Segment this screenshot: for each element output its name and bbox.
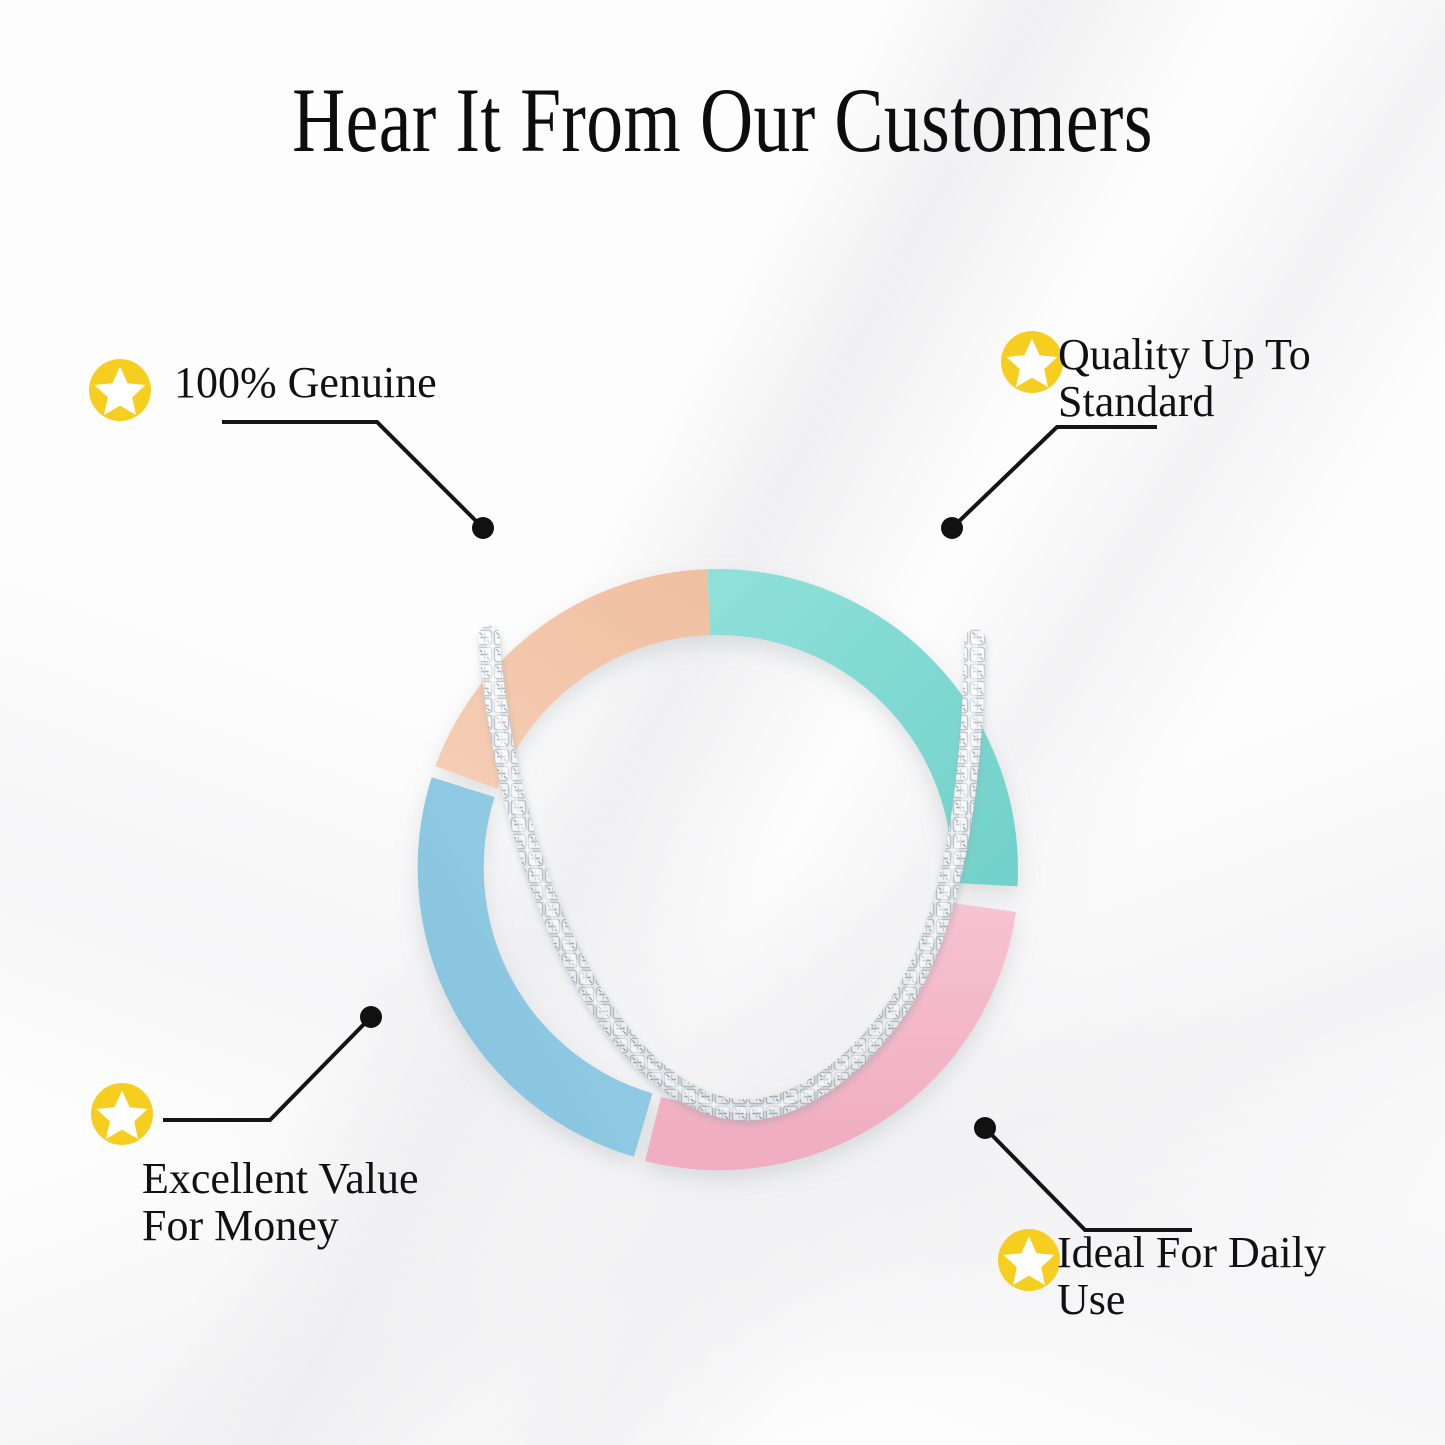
callout-genuine-label: 100% Genuine xyxy=(174,358,437,407)
callout-daily[interactable]: Ideal For Daily Use xyxy=(997,1228,1326,1323)
donut-segment-quality[interactable] xyxy=(709,602,985,885)
callout-value-label: Excellent Value For Money xyxy=(142,1154,419,1249)
callout-quality-label: Quality Up To Standard xyxy=(1058,330,1311,425)
callout-daily-label: Ideal For Daily Use xyxy=(1057,1228,1326,1323)
leader-dot-genuine xyxy=(472,517,494,539)
leader-dot-daily xyxy=(974,1117,996,1139)
donut-ring-group xyxy=(451,602,985,1137)
infographic-canvas: Hear It From Our Customers xyxy=(0,0,1445,1445)
leader-genuine xyxy=(222,422,494,539)
callout-quality[interactable]: Quality Up To Standard xyxy=(1000,330,1311,425)
star-badge-icon xyxy=(90,1082,154,1146)
donut-segment-genuine[interactable] xyxy=(466,602,708,777)
donut-segment-daily[interactable] xyxy=(653,907,983,1137)
callout-value[interactable]: Excellent Value For Money xyxy=(90,1082,419,1249)
donut-segment-value[interactable] xyxy=(451,787,643,1125)
star-badge-icon xyxy=(88,358,152,422)
leader-dot-quality xyxy=(941,517,963,539)
leader-quality xyxy=(941,427,1157,539)
leader-dot-value xyxy=(360,1006,382,1028)
callout-genuine[interactable]: 100% Genuine xyxy=(88,358,437,422)
leader-daily xyxy=(974,1117,1192,1230)
star-badge-icon xyxy=(1000,330,1064,394)
star-badge-icon xyxy=(997,1228,1061,1292)
